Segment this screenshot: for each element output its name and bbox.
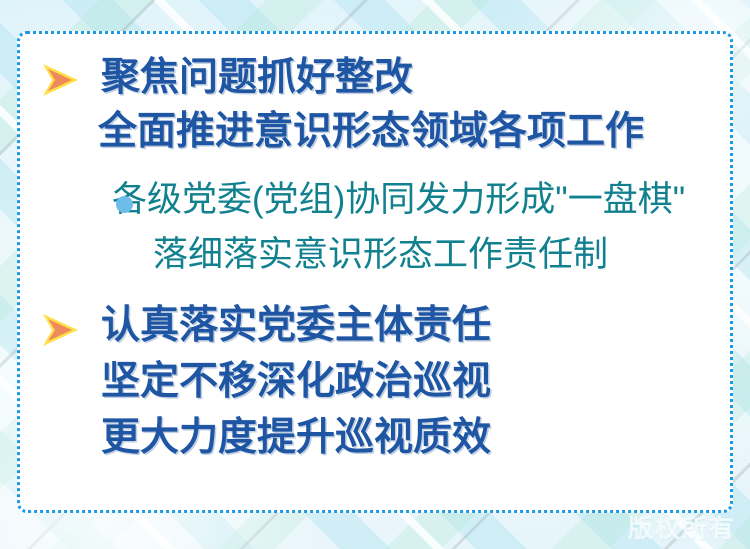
section-1-continued: 全面推进意识形态领域各项工作 xyxy=(20,112,644,151)
section-3-line-2: 坚定不移深化政治巡视 xyxy=(46,362,491,401)
section-3-line-1: 认真落实党委主体责任 xyxy=(46,306,491,345)
section-2-line-2: 落细落实意识形态工作责任制 xyxy=(112,237,608,272)
section-3: 认真落实党委主体责任 xyxy=(20,306,491,345)
section-1-line-2: 全面推进意识形态领域各项工作 xyxy=(46,112,644,151)
slide-canvas: 版权所有 聚焦问题抓好整改 全面推进意识形态领域各项工作 各级党委(党组)协同发… xyxy=(0,0,750,549)
arrow-bullet-icon xyxy=(40,312,80,348)
dotted-content-card: 聚焦问题抓好整改 全面推进意识形态领域各项工作 各级党委(党组)协同发力形成"一… xyxy=(17,31,733,513)
round-bullet-icon xyxy=(116,196,133,213)
section-1: 聚焦问题抓好整改 xyxy=(20,58,413,97)
arrow-bullet-icon xyxy=(40,62,80,98)
section-3-continued-2: 更大力度提升巡视质效 xyxy=(20,418,491,457)
watermark-text: 版权所有 xyxy=(628,509,736,545)
section-3-continued-1: 坚定不移深化政治巡视 xyxy=(20,362,491,401)
section-2: 各级党委(党组)协同发力形成"一盘棋" xyxy=(20,182,685,217)
section-2-line-1: 各级党委(党组)协同发力形成"一盘棋" xyxy=(112,182,685,217)
section-3-line-3: 更大力度提升巡视质效 xyxy=(46,418,491,457)
section-1-line-1: 聚焦问题抓好整改 xyxy=(46,58,413,97)
section-2-continued: 落细落实意识形态工作责任制 xyxy=(20,237,608,272)
card-content: 聚焦问题抓好整改 全面推进意识形态领域各项工作 各级党委(党组)协同发力形成"一… xyxy=(20,34,730,510)
